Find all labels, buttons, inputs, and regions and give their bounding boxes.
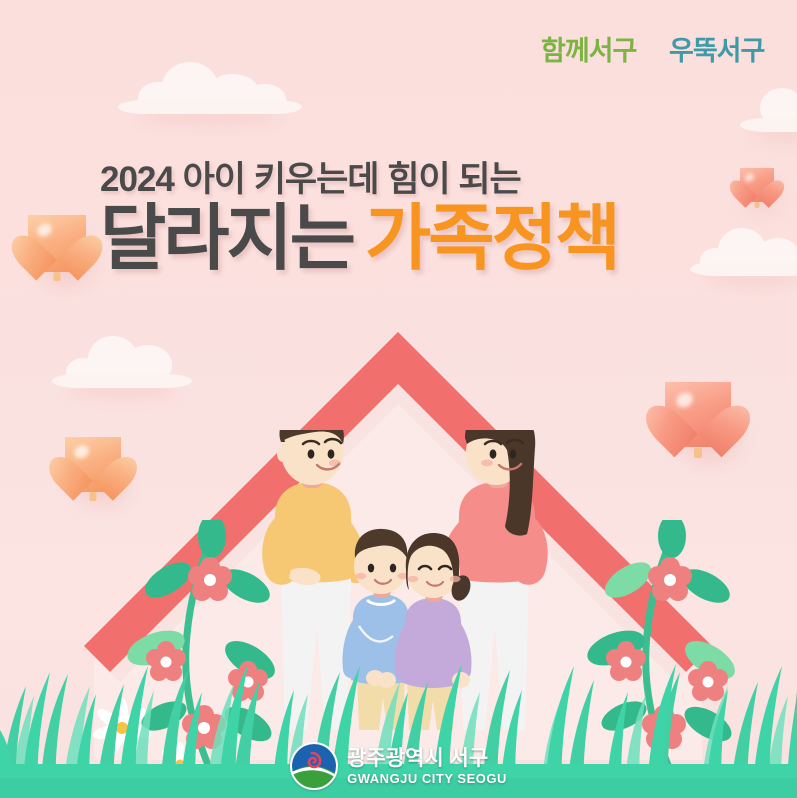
father-figure — [262, 430, 367, 730]
cloud-mid-left — [62, 336, 184, 388]
headline-main-dark: 달라지는 — [100, 199, 353, 279]
headline-block: 2024 아이 키우는데 힘이 되는 달라지는가족정책 — [0, 160, 797, 278]
house-roof — [0, 0, 797, 798]
poster-canvas: 함께서구 우뚝서구 2024 아이 키우는데 힘이 되는 달라지는가족정책 광주… — [0, 0, 797, 798]
son-figure — [342, 529, 419, 730]
headline-main-accent: 가족정책 — [365, 199, 618, 279]
gwangju-seogu-emblem-icon — [290, 742, 338, 790]
heart-balloon-left-mid — [65, 437, 121, 501]
seogu-district-slogan: 함께서구 우뚝서구 — [541, 30, 777, 70]
slogan-part2: 우뚝서구 — [669, 36, 765, 66]
gov-logo-english: GWANGJU CITY SEOGU — [347, 772, 507, 785]
flower-vine-left — [60, 520, 280, 770]
cloud-top-left — [130, 62, 290, 114]
cloud-upper-right — [748, 88, 797, 132]
slogan-part1: 함께서구 — [541, 36, 637, 66]
gwangju-seogu-logo: 광주광역시 서구 GWANGJU CITY SEOGU — [0, 742, 797, 790]
headline-main: 달라지는가족정책 — [100, 202, 797, 278]
daughter-figure — [394, 533, 473, 730]
mother-figure — [410, 430, 548, 730]
flower-vine-right — [520, 520, 740, 770]
family-illustration — [255, 430, 555, 730]
heart-balloon-right-large — [665, 382, 731, 458]
gov-logo-text: 광주광역시 서구 GWANGJU CITY SEOGU — [347, 748, 507, 785]
headline-subtitle: 2024 아이 키우는데 힘이 되는 — [100, 160, 797, 200]
gov-logo-korean: 광주광역시 서구 — [347, 748, 507, 769]
